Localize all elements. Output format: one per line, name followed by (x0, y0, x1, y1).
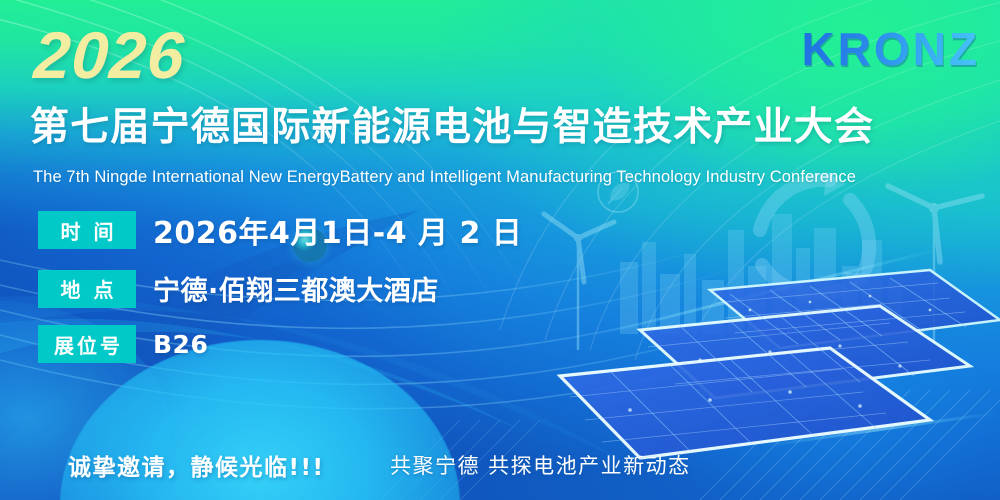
wind-turbine-icon (544, 214, 614, 350)
info-tag-booth: 展位号 (38, 325, 136, 363)
info-tag-time: 时 间 (38, 211, 136, 249)
year-heading: 2026 (32, 22, 186, 88)
info-tag-location: 地 点 (38, 270, 136, 308)
page-title: 第七届宁德国际新能源电池与智造技术产业大会 (30, 108, 874, 149)
info-row-time: 时 间 2026年4月1日-4 月 2 日 (38, 208, 522, 252)
info-value-time: 2026年4月1日-4 月 2 日 (153, 208, 522, 252)
kronz-logo: KRONZ (801, 22, 980, 76)
invitation-slogan: 诚挚邀请，静候光临!!! (68, 448, 324, 482)
conference-banner: KRONZ 2026 第七届宁德国际新能源电池与智造技术产业大会 The 7th… (0, 0, 1000, 500)
info-value-location: 宁德·佰翔三都澳大酒店 (153, 269, 439, 308)
info-value-booth: B26 (153, 330, 208, 359)
event-info-list: 时 间 2026年4月1日-4 月 2 日 地 点 宁德·佰翔三都澳大酒店 展位… (38, 208, 522, 363)
info-row-location: 地 点 宁德·佰翔三都澳大酒店 (38, 269, 522, 308)
page-subtitle-english: The 7th Ningde International New EnergyB… (33, 168, 856, 186)
info-row-booth: 展位号 B26 (38, 325, 522, 363)
event-tagline: 共聚宁德 共探电池产业新动态 (390, 450, 691, 480)
